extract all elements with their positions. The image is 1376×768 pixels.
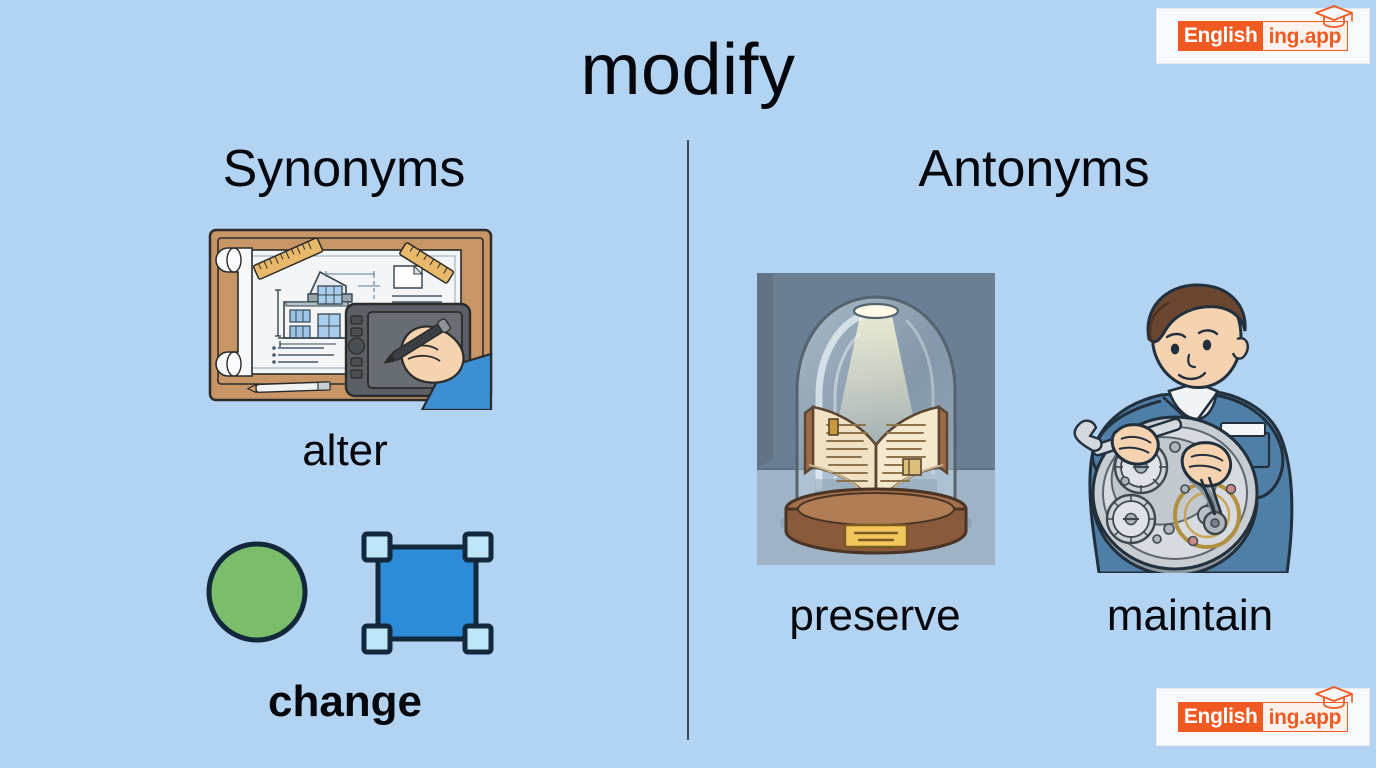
word-label-alter: alter: [185, 425, 505, 477]
column-divider: [687, 140, 689, 740]
graduation-cap-icon: [1314, 4, 1354, 28]
word-label-change: change: [185, 676, 505, 728]
illustration-change: [200, 520, 510, 660]
graduation-cap-icon: [1314, 685, 1354, 709]
logo-bottom-right[interactable]: English ing.app: [1156, 688, 1370, 746]
logo-top-right[interactable]: English ing.app: [1156, 8, 1370, 64]
word-label-maintain: maintain: [1030, 590, 1350, 642]
illustration-preserve: [757, 273, 995, 565]
illustration-maintain: [1065, 283, 1315, 573]
word-label-preserve: preserve: [715, 590, 1035, 642]
synonyms-header: Synonyms: [120, 138, 568, 200]
illustration-alter: [208, 228, 493, 410]
logo-text-english: English: [1178, 21, 1263, 51]
slide-canvas: modify Synonyms Antonyms: [0, 0, 1376, 768]
blue-square-shape: [378, 547, 476, 639]
antonyms-header: Antonyms: [810, 138, 1258, 200]
green-circle-shape: [209, 544, 305, 640]
logo-text-english: English: [1178, 702, 1263, 732]
